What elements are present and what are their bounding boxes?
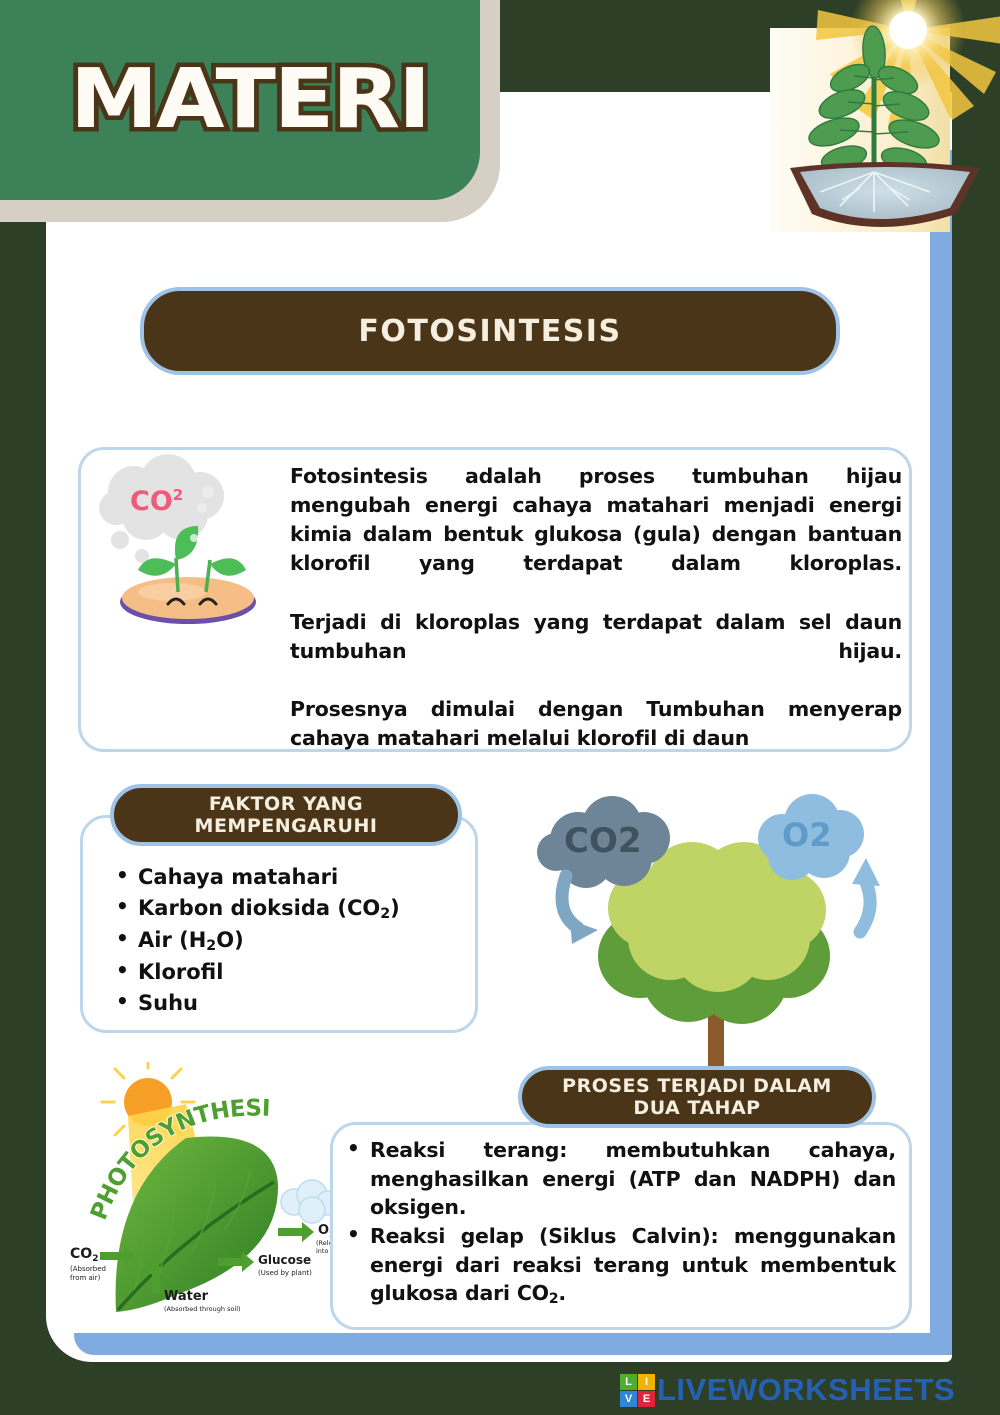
faktor-item-tail: O) [216,928,243,952]
svg-text:(Absorbed: (Absorbed [70,1265,106,1273]
logo-tile-e: E [638,1391,655,1407]
card-right-blue-strip [930,150,952,1355]
list-item: Klorofil [112,957,462,988]
definition-line-2: Terjadi di kloroplas yang terdapat dalam… [290,608,902,695]
list-item: Reaksi gelap (Siklus Calvin): menggunaka… [344,1222,896,1310]
co2-o2-tree-diagram: CO2 O2 [520,780,920,1080]
section-title-label: FOTOSINTESIS [358,314,621,349]
definition-text: Fotosintesis adalah proses tumbuhan hija… [290,462,902,753]
proses-item-sub: 2 [549,1292,559,1308]
faktor-item-label: Cahaya matahari [138,865,338,889]
list-item: Reaksi terang: membutuhkan cahaya, mengh… [344,1136,896,1222]
faktor-item-label: Karbon dioksida (CO [138,896,380,920]
svg-text:(Used by plant): (Used by plant) [258,1269,312,1277]
liveworksheets-logo-icon: L I V E [620,1374,655,1407]
definition-line-3: Prosesnya dimulai dengan Tumbuhan menyer… [290,695,902,753]
list-item: Suhu [112,988,462,1019]
faktor-item-label: Klorofil [138,960,223,984]
proses-item-text: Reaksi gelap (Siklus Calvin): menggunaka… [370,1224,896,1305]
faktor-heading-line1: FAKTOR YANG [209,793,363,815]
list-item: Cahaya matahari [112,862,462,893]
proses-heading-line2: DUA TAHAP [633,1097,760,1119]
svg-text:(Absorbed through soil): (Absorbed through soil) [164,1305,241,1313]
proses-item-post: . [558,1281,566,1305]
photosynthesis-leaf-diagram: CO2 (Absorbed from air) Water (Absorbed … [66,1062,366,1324]
svg-text:from air): from air) [70,1274,101,1282]
proses-list: Reaksi terang: membutuhkan cahaya, mengh… [344,1136,896,1310]
faktor-item-sub: 2 [380,906,390,922]
watermark-text: LIVEWORKSHEETS [657,1372,955,1408]
card-bottom-blue-strip [74,1333,952,1355]
proses-heading: PROSES TERJADI DALAM DUA TAHAP [518,1066,876,1128]
label-glucose: Glucose [258,1253,311,1267]
list-item: Karbon dioksida (CO2) [112,893,462,925]
label-water: Water [164,1289,209,1304]
liveworksheets-watermark: L I V E LIVEWORKSHEETS [620,1372,955,1408]
worksheet-page: MATERI [0,0,1000,1415]
co2-cloud-seedling-icon: CO2 [92,452,282,637]
faktor-heading-line2: MEMPENGARUHI [195,815,378,837]
label-co2: CO2 [70,1246,98,1264]
faktor-heading: FAKTOR YANG MEMPENGARUHI [110,784,462,846]
logo-tile-i: I [638,1374,655,1390]
list-item: Air (H2O) [112,925,462,957]
proses-heading-line1: PROSES TERJADI DALAM [562,1075,832,1097]
logo-tile-l: L [620,1374,637,1390]
co2-cloud-label: CO2 [564,821,642,861]
page-title: MATERI [70,52,429,147]
faktor-item-tail: ) [390,896,400,920]
faktor-list: Cahaya matahari Karbon dioksida (CO2) Ai… [112,862,462,1019]
proses-item-text: Reaksi terang: membutuhkan cahaya, mengh… [370,1138,896,1219]
faktor-item-label: Air (H [138,928,206,952]
definition-line-1: Fotosintesis adalah proses tumbuhan hija… [290,462,902,608]
faktor-item-label: Suhu [138,991,198,1015]
plant-sun-roots-illustration [770,0,1000,232]
o2-cloud-label: O2 [782,816,831,854]
logo-tile-v: V [620,1391,637,1407]
faktor-item-sub: 2 [206,938,216,954]
section-title-fotosintesis: FOTOSINTESIS [140,287,840,375]
